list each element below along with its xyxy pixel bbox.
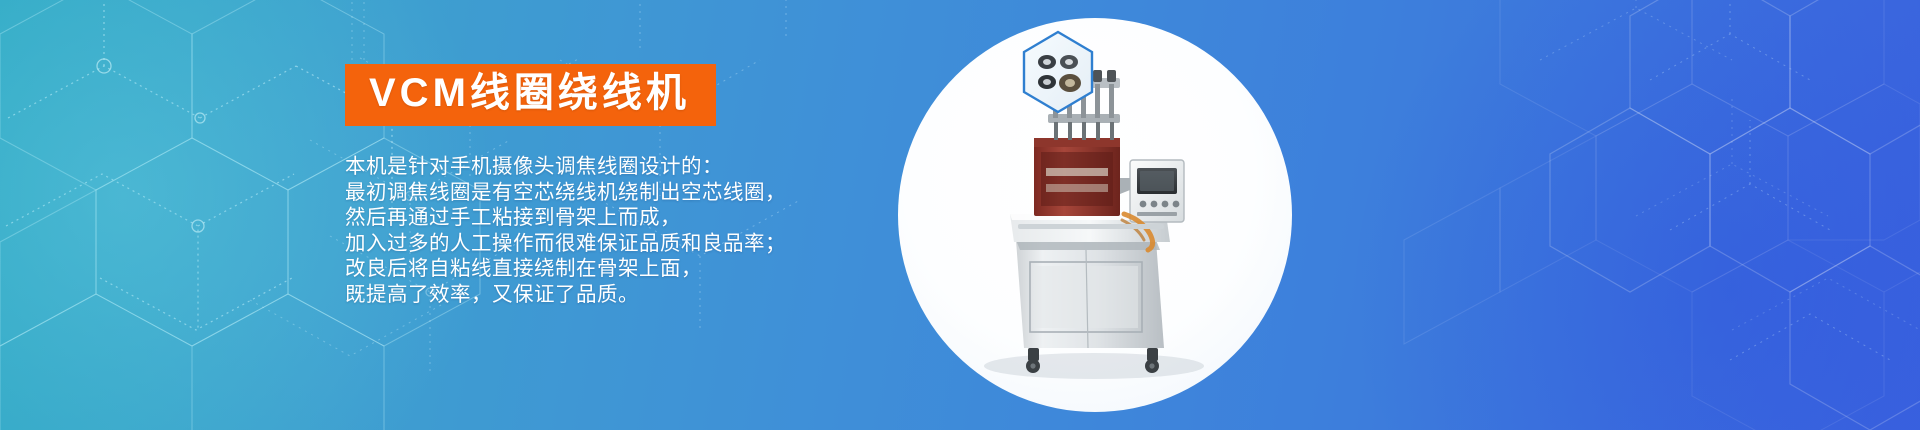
title-badge: VCM线圈绕线机 [345, 64, 716, 126]
product-banner: .ln { fill:none; stroke:#ffffff; stroke-… [0, 0, 1920, 430]
product-zone [880, 0, 1920, 430]
right-hexagon-outlines [1500, 0, 1920, 430]
page-title: VCM线圈绕线机 [369, 73, 690, 113]
coil-product-badge [1020, 30, 1096, 114]
